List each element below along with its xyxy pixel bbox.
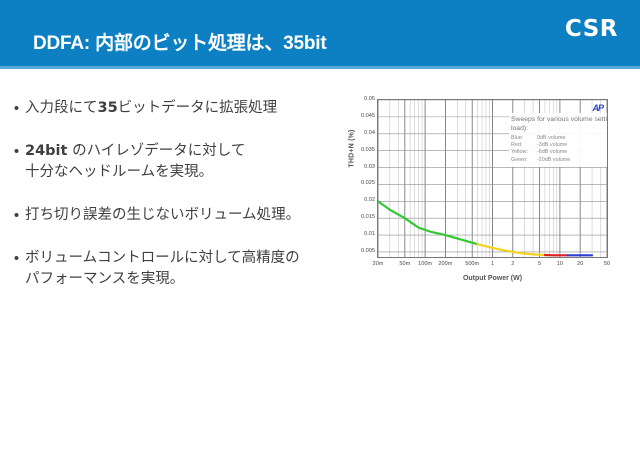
chart-legend-item: Yellow:-6dB volume bbox=[511, 149, 608, 156]
bullet-text: 打ち切り誤差の生じないボリューム処理。 bbox=[25, 205, 300, 226]
chart-y-tick-label: 0.03 bbox=[341, 164, 375, 170]
chart-legend-label: -20dB volume bbox=[537, 157, 570, 164]
chart-legend-label: -6dB volume bbox=[537, 149, 567, 156]
page-title-suffix: 35bit bbox=[283, 33, 326, 54]
chart-legend-item: Red:-3dB volume bbox=[511, 142, 608, 149]
chart-legend-rows: Blue:0dB volumeRed:-3dB volumeYellow:-6d… bbox=[511, 135, 608, 164]
bullet-line: 十分なヘッドルームを実現。 bbox=[25, 162, 245, 183]
chart-x-tick-label: 50m bbox=[399, 261, 410, 267]
chart-x-tick-label: 100m bbox=[418, 261, 432, 267]
bullet-item: •24bit のハイレゾデータに対して十分なヘッドルームを実現。 bbox=[8, 141, 348, 183]
chart-y-tick-label: 0.025 bbox=[341, 180, 375, 186]
chart-x-tick-label: 2 bbox=[511, 261, 514, 267]
bullet-item: •入力段にて35ビットデータに拡張処理 bbox=[8, 98, 348, 119]
chart-x-tick-label: 10 bbox=[557, 261, 563, 267]
chart-legend-color-name: Blue: bbox=[511, 135, 537, 142]
chart-legend-label: 0dB volume bbox=[537, 135, 565, 142]
bullet-segment: ボリュームコントロールに対して高精度の bbox=[25, 250, 300, 266]
bullet-marker-icon: • bbox=[8, 98, 25, 119]
bullet-line: 入力段にて35ビットデータに拡張処理 bbox=[25, 98, 277, 119]
chart-x-tick-label: 50 bbox=[604, 261, 610, 267]
chart-x-tick-label: 1 bbox=[491, 261, 494, 267]
page-title-prefix: DDFA: bbox=[33, 33, 90, 54]
chart-legend: Sweeps for various volume settings (8Ω l… bbox=[509, 113, 608, 167]
chart-y-tick-label: 0.035 bbox=[341, 147, 375, 153]
chart-y-tick-label: 0.04 bbox=[341, 130, 375, 136]
chart-legend-title: Sweeps for various volume settings (8Ω l… bbox=[511, 115, 608, 133]
chart-legend-color-name: Yellow: bbox=[511, 149, 537, 156]
chart-y-tick-label: 0.005 bbox=[341, 248, 375, 254]
bullet-marker-icon: • bbox=[8, 248, 25, 269]
chart-legend-item: Green:-20dB volume bbox=[511, 157, 608, 164]
chart-x-tick-label: 20m bbox=[373, 261, 384, 267]
chart-x-ticks: 20m50m100m200m500m125102050 bbox=[377, 261, 608, 273]
bullet-line: パフォーマンスを実現。 bbox=[25, 269, 300, 290]
chart-y-ticks: 0.050.0450.040.0350.030.0250.020.0150.01… bbox=[337, 93, 375, 258]
bullet-text: 24bit のハイレゾデータに対して十分なヘッドルームを実現。 bbox=[25, 141, 245, 183]
chart-y-tick-label: 0.05 bbox=[341, 96, 375, 102]
bullet-segment: ビットデータに拡張処理 bbox=[118, 100, 278, 116]
bullet-segment: 入力段にて bbox=[25, 100, 98, 116]
chart-legend-color-name: Green: bbox=[511, 157, 537, 164]
chart-x-tick-label: 5 bbox=[538, 261, 541, 267]
bullet-segment: パフォーマンスを実現。 bbox=[25, 271, 184, 287]
chart-plot-area: Sweeps for various volume settings (8Ω l… bbox=[377, 99, 608, 258]
bullet-line: 24bit のハイレゾデータに対して bbox=[25, 141, 245, 162]
chart-x-axis-label: Output Power (W) bbox=[377, 275, 608, 282]
bullet-marker-icon: • bbox=[8, 141, 25, 162]
chart-x-tick-label: 200m bbox=[438, 261, 452, 267]
page-title: DDFA: 内部のビット処理は、35bit bbox=[33, 28, 327, 55]
chart-legend-color-name: Red: bbox=[511, 142, 537, 149]
bullet-segment: のハイレゾデータに対して bbox=[67, 143, 245, 159]
chart-legend-item: Blue:0dB volume bbox=[511, 135, 608, 142]
bullet-marker-icon: • bbox=[8, 205, 25, 226]
ap-watermark-icon: AP bbox=[592, 103, 603, 113]
csr-logo: CSR bbox=[565, 16, 618, 42]
chart-y-tick-label: 0.02 bbox=[341, 197, 375, 203]
bullet-line: ボリュームコントロールに対して高精度の bbox=[25, 248, 300, 269]
bullet-list: •入力段にて35ビットデータに拡張処理•24bit のハイレゾデータに対して十分… bbox=[8, 98, 348, 312]
chart-x-tick-label: 500m bbox=[465, 261, 479, 267]
bullet-line: 打ち切り誤差の生じないボリューム処理。 bbox=[25, 205, 300, 226]
chart-legend-label: -3dB volume bbox=[537, 142, 567, 149]
thd-chart: THD+N (%) 0.050.0450.040.0350.030.0250.0… bbox=[333, 93, 633, 293]
bullet-emphasis: 24bit bbox=[25, 143, 67, 159]
header-underline bbox=[0, 66, 640, 69]
bullet-item: •打ち切り誤差の生じないボリューム処理。 bbox=[8, 205, 348, 226]
bullet-item: •ボリュームコントロールに対して高精度のパフォーマンスを実現。 bbox=[8, 248, 348, 290]
bullet-text: 入力段にて35ビットデータに拡張処理 bbox=[25, 98, 277, 119]
chart-x-tick-label: 20 bbox=[577, 261, 583, 267]
bullet-emphasis: 35 bbox=[98, 100, 118, 116]
bullet-segment: 十分なヘッドルームを実現。 bbox=[25, 164, 213, 180]
chart-y-tick-label: 0.01 bbox=[341, 231, 375, 237]
chart-y-tick-label: 0.045 bbox=[341, 113, 375, 119]
bullet-text: ボリュームコントロールに対して高精度のパフォーマンスを実現。 bbox=[25, 248, 300, 290]
page-title-main: 内部のビット処理は、 bbox=[90, 33, 283, 54]
bullet-segment: 打ち切り誤差の生じないボリューム処理。 bbox=[25, 207, 300, 223]
chart-y-tick-label: 0.015 bbox=[341, 214, 375, 220]
